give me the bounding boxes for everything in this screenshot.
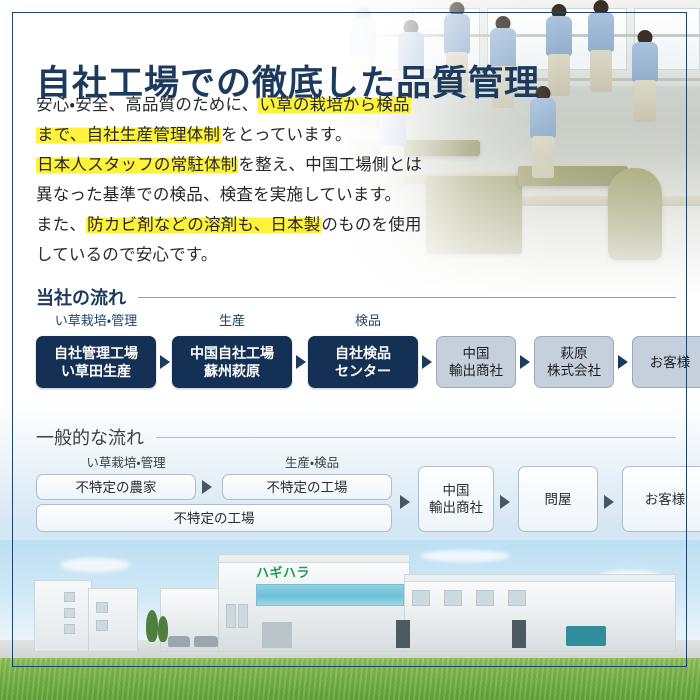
divider-line bbox=[156, 437, 676, 438]
general-flow-diagram: い草栽培・管理 生産・検品 不特定の農家 不特定の工場 不特定の工場 中国 輸出… bbox=[36, 452, 676, 540]
highlighted-text: まで、自社生産管理体制 bbox=[36, 126, 221, 144]
flow-step-line: 輸出商社 bbox=[449, 362, 503, 379]
lead-line: また、防カビ剤などの溶剤も、日本製のものを使用 bbox=[36, 210, 466, 240]
highlighted-text: い草の栽培から検品 bbox=[258, 96, 410, 114]
own-flow-diagram: い草栽培・管理 生産 検品 自社管理工場 い草田生産 中国自社工場 蘇州萩原 自… bbox=[36, 310, 676, 392]
flow-arrow-icon bbox=[202, 480, 212, 494]
flow-arrow-icon bbox=[618, 355, 628, 369]
lead-text: をとっています。 bbox=[221, 126, 352, 144]
highlighted-text: 防カビ剤などの溶剤も、日本製 bbox=[86, 216, 321, 234]
flow-column-label: い草栽培・管理 bbox=[46, 452, 206, 471]
divider-line bbox=[138, 297, 676, 298]
flow-step-line: 中国 bbox=[443, 482, 470, 499]
flow-step-line: い草田生産 bbox=[61, 362, 131, 380]
flow-column-label: 生産・検品 bbox=[232, 452, 392, 471]
flow-column-label: い草栽培・管理 bbox=[36, 310, 156, 329]
flow-arrow-icon bbox=[296, 355, 306, 369]
flow-arrow-icon bbox=[422, 355, 432, 369]
lead-line: まで、自社生産管理体制をとっています。 bbox=[36, 120, 466, 150]
flow-step-line: 自社管理工場 bbox=[54, 344, 138, 362]
flow-step-line: 不特定の工場 bbox=[174, 510, 255, 527]
flow-step-line: 萩原 bbox=[561, 345, 588, 362]
section-heading-own-flow: 当社の流れ bbox=[36, 284, 676, 310]
flow-step-line: 不特定の工場 bbox=[267, 479, 348, 496]
flow-step-box: 問屋 bbox=[518, 466, 598, 532]
lead-line: 日本人スタッフの常駐体制を整え、中国工場側とは bbox=[36, 150, 466, 180]
lead-line: 安心・安全、高品質のために、い草の栽培から検品 bbox=[36, 90, 466, 120]
lead-line: 異なった基準での検品、検査を実施しています。 bbox=[36, 180, 466, 210]
flow-arrow-icon bbox=[500, 495, 510, 509]
flow-step-box: 不特定の農家 bbox=[36, 474, 196, 500]
highlighted-text: 日本人スタッフの常駐体制 bbox=[36, 156, 238, 174]
lead-text: しているので安心です。 bbox=[36, 246, 218, 264]
flow-step-box: 萩原 株式会社 bbox=[534, 336, 614, 388]
flow-step-box: 自社管理工場 い草田生産 bbox=[36, 336, 156, 388]
section-title: 一般的な流れ bbox=[36, 424, 144, 450]
infographic-page: ハギハラ 自社工場での徹底した品質管理 安心・安全、高品質のために、い草の栽培か… bbox=[0, 0, 700, 700]
section-heading-general-flow: 一般的な流れ bbox=[36, 424, 676, 450]
content-layer: 自社工場での徹底した品質管理 安心・安全、高品質のために、い草の栽培から検品まで… bbox=[0, 0, 700, 700]
flow-step-line: 中国 bbox=[463, 345, 490, 362]
flow-step-line: センター bbox=[335, 362, 391, 380]
flow-step-box: 中国 輸出商社 bbox=[418, 466, 494, 532]
lead-text: のものを使用 bbox=[321, 216, 421, 234]
flow-arrow-icon bbox=[604, 495, 614, 509]
lead-text: また、 bbox=[36, 216, 86, 234]
flow-step-box: 不特定の工場 bbox=[36, 504, 392, 532]
flow-step-line: 問屋 bbox=[545, 491, 572, 508]
flow-arrow-icon bbox=[520, 355, 530, 369]
flow-step-line: 株式会社 bbox=[547, 362, 601, 379]
flow-step-line: 自社検品 bbox=[335, 344, 391, 362]
flow-step-line: お客様 bbox=[645, 491, 686, 508]
flow-step-line: 中国自社工場 bbox=[190, 344, 274, 362]
flow-column-label: 検品 bbox=[308, 310, 428, 329]
flow-step-box: お客様 bbox=[622, 466, 700, 532]
lead-line: しているので安心です。 bbox=[36, 240, 466, 270]
lead-text: を整え、中国工場側とは bbox=[238, 156, 422, 174]
flow-step-box: 不特定の工場 bbox=[222, 474, 392, 500]
lead-paragraph: 安心・安全、高品質のために、い草の栽培から検品まで、自社生産管理体制をとっていま… bbox=[36, 90, 466, 270]
flow-step-box: お客様 bbox=[632, 336, 700, 388]
flow-step-box: 中国 輸出商社 bbox=[436, 336, 516, 388]
flow-arrow-icon bbox=[160, 355, 170, 369]
flow-step-line: 輸出商社 bbox=[429, 499, 483, 516]
flow-step-box: 自社検品 センター bbox=[308, 336, 418, 388]
flow-column-label: 生産 bbox=[172, 310, 292, 329]
lead-text: 異なった基準での検品、検査を実施しています。 bbox=[36, 186, 401, 204]
flow-arrow-icon bbox=[400, 495, 410, 509]
flow-step-line: 蘇州萩原 bbox=[204, 362, 260, 380]
flow-step-line: お客様 bbox=[650, 354, 691, 371]
section-title: 当社の流れ bbox=[36, 284, 126, 310]
flow-step-box: 中国自社工場 蘇州萩原 bbox=[172, 336, 292, 388]
flow-step-line: 不特定の農家 bbox=[76, 479, 157, 496]
lead-text: 安心・安全、高品質のために、 bbox=[36, 96, 258, 114]
